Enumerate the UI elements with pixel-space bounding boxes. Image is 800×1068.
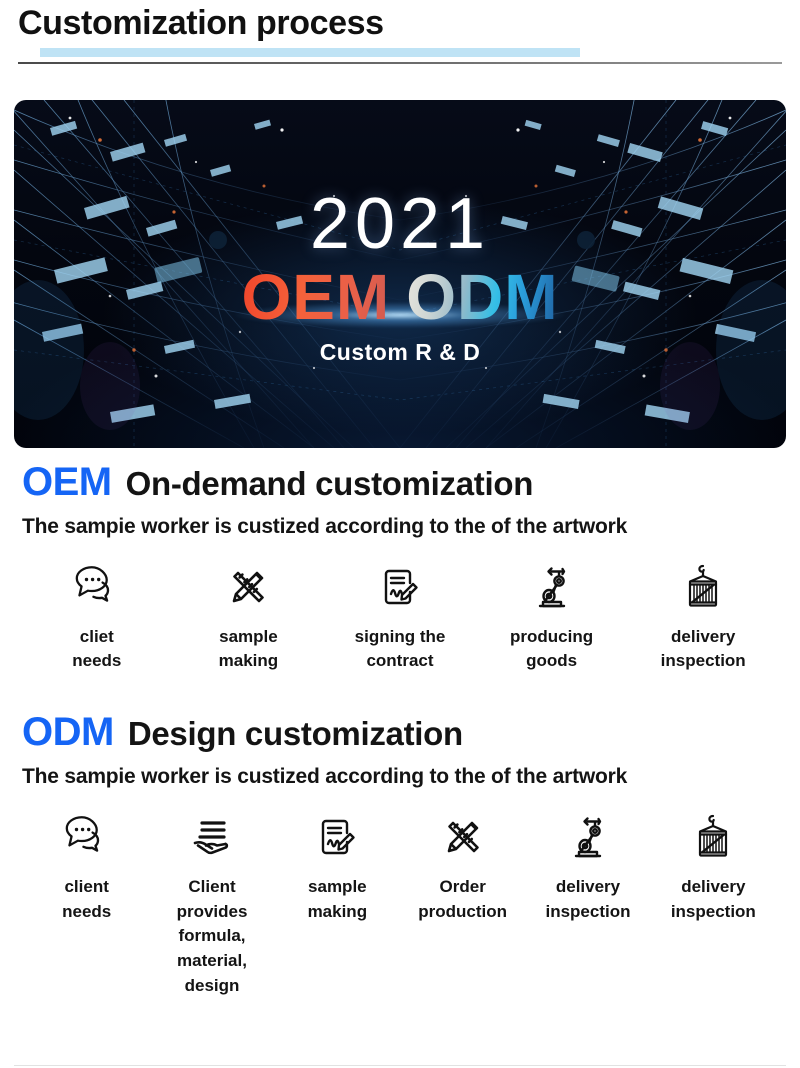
odm-subtitle: The sampie worker is custized according … (16, 765, 784, 789)
step-label: sample making (219, 625, 279, 674)
odm-steps-row: client needs Client provides formula, ma… (16, 811, 784, 998)
step-item: cliet needs (44, 561, 150, 674)
odm-heading-row: ODM Design customization (16, 712, 784, 752)
title-accent-bar (40, 48, 580, 57)
step-item: delivery inspection (657, 811, 770, 924)
contract-signature-icon (314, 811, 360, 863)
page-header: Customization process (0, 0, 800, 57)
step-item: signing the contract (347, 561, 453, 674)
oem-steps-row: cliet needs sample making (16, 561, 784, 674)
pencil-ruler-icon (440, 811, 486, 863)
page-title: Customization process (18, 4, 800, 42)
step-label: signing the contract (355, 625, 446, 674)
oem-subtitle: The sampie worker is custized according … (16, 515, 784, 539)
shipping-crate-icon (681, 561, 725, 613)
step-label: sample making (308, 875, 368, 924)
step-item: client needs (30, 811, 143, 924)
oem-section: OEM On-demand customization The sampie w… (0, 462, 800, 674)
odm-tag: ODM (22, 712, 114, 752)
banner-oem-odm-logo: OEM ODM (241, 264, 558, 331)
step-label: producing goods (510, 625, 593, 674)
robot-arm-icon (529, 561, 575, 613)
banner-year: 2021 (310, 188, 490, 260)
step-label: client needs (62, 875, 111, 924)
banner-subtitle: Custom R & D (320, 339, 481, 366)
oem-heading: On-demand customization (126, 467, 533, 500)
oem-heading-row: OEM On-demand customization (16, 462, 784, 502)
step-label: cliet needs (72, 625, 121, 674)
banner-oem-word: OEM (241, 264, 390, 331)
step-label: delivery inspection (661, 625, 746, 674)
step-label: Client provides formula, material, desig… (155, 875, 268, 998)
step-item: Client provides formula, material, desig… (155, 811, 268, 998)
hero-banner: 2021 OEM ODM Custom R & D (14, 100, 786, 448)
shipping-crate-icon (691, 811, 735, 863)
step-item: sample making (196, 561, 302, 674)
step-label: Order production (418, 875, 507, 924)
oem-tag: OEM (22, 462, 112, 502)
odm-heading: Design customization (128, 717, 463, 750)
step-label: delivery inspection (671, 875, 756, 924)
chat-bubbles-icon (72, 561, 122, 613)
step-item: sample making (281, 811, 394, 924)
step-item: delivery inspection (650, 561, 756, 674)
step-item: producing goods (499, 561, 605, 674)
step-item: Order production (406, 811, 519, 924)
contract-signature-icon (377, 561, 423, 613)
odm-section: ODM Design customization The sampie work… (0, 712, 800, 998)
hand-documents-icon (189, 811, 235, 863)
pencil-ruler-icon (225, 561, 271, 613)
banner-odm-word: ODM (406, 264, 558, 331)
header-divider (18, 62, 782, 64)
step-item: delivery inspection (531, 811, 644, 924)
chat-bubbles-icon (62, 811, 112, 863)
robot-arm-icon (565, 811, 611, 863)
step-label: delivery inspection (545, 875, 630, 924)
bottom-divider (14, 1065, 786, 1066)
